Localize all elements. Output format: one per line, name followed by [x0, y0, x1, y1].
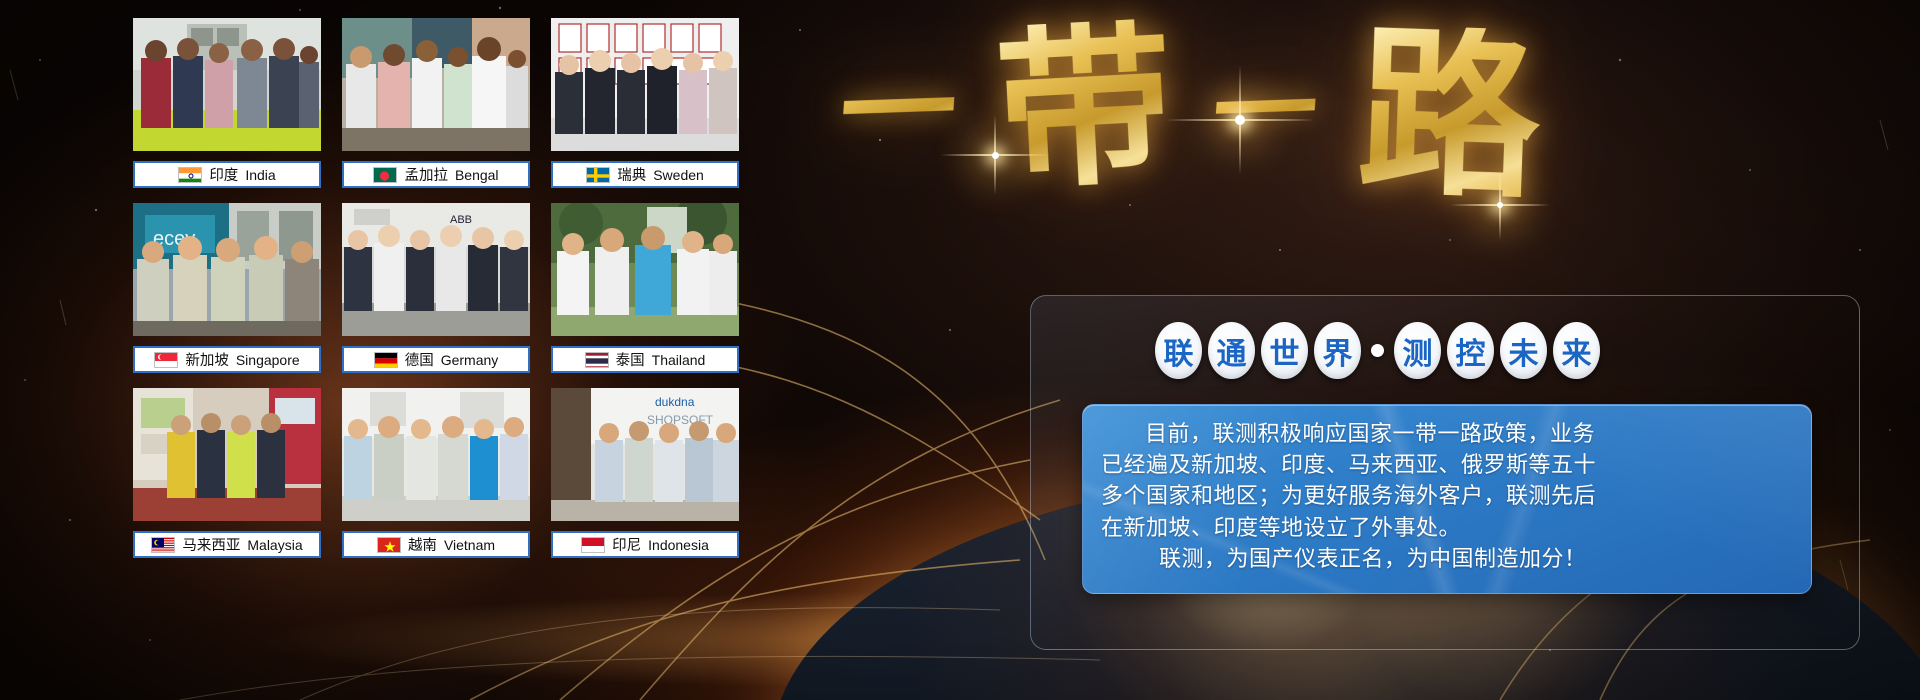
- photo-thumbnail: [133, 18, 321, 151]
- country-name-cn: 新加坡: [185, 349, 229, 370]
- gallery-item[interactable]: 马来西亚 Malaysia: [133, 388, 321, 558]
- gallery-item[interactable]: 孟加拉 Bengal: [342, 18, 530, 188]
- country-label: 马来西亚 Malaysia: [133, 531, 321, 558]
- photo-thumbnail: ABB: [342, 203, 530, 336]
- photo-thumbnail: [342, 18, 530, 151]
- country-name-en: Singapore: [236, 352, 300, 368]
- slogan-badge: 未: [1500, 322, 1547, 379]
- headline-char-1: 一: [836, 53, 960, 173]
- flag-germany-icon: [374, 352, 398, 368]
- country-name-en: Sweden: [653, 167, 704, 183]
- slogan-badge: 控: [1447, 322, 1494, 379]
- country-name-cn: 越南: [408, 534, 437, 555]
- country-name-en: Bengal: [455, 167, 499, 183]
- photo-thumbnail: [551, 18, 739, 151]
- slogan-badge: 来: [1553, 322, 1600, 379]
- photo-thumbnail: [551, 203, 739, 336]
- photo-thumbnail: dukdna SHOPSOFT: [551, 388, 739, 521]
- description-line: 多个国家和地区；为更好服务海外客户，联测先后: [1101, 481, 1793, 512]
- description-line: 目前，联测积极响应国家一带一路政策，业务: [1101, 419, 1793, 450]
- gallery-item[interactable]: 瑞典 Sweden: [551, 18, 739, 188]
- country-name-en: Vietnam: [444, 537, 495, 553]
- gallery-item[interactable]: dukdna SHOPSOFT: [551, 388, 739, 558]
- country-name-cn: 瑞典: [617, 164, 646, 185]
- svg-text:dukdna: dukdna: [655, 395, 695, 409]
- country-name-cn: 马来西亚: [182, 534, 240, 555]
- country-label: 德国 Germany: [342, 346, 530, 373]
- description-line: 在新加坡、印度等地设立了外事处。: [1101, 513, 1793, 544]
- country-label: 越南 Vietnam: [342, 531, 530, 558]
- country-label: 印尼 Indonesia: [551, 531, 739, 558]
- country-name-en: Thailand: [652, 352, 706, 368]
- photo-thumbnail: [342, 388, 530, 521]
- gallery-item[interactable]: ABB: [342, 203, 530, 373]
- description-line: 已经遍及新加坡、印度、马来西亚、俄罗斯等五十: [1101, 450, 1793, 481]
- description-box: 目前，联测积极响应国家一带一路政策，业务 已经遍及新加坡、印度、马来西亚、俄罗斯…: [1082, 404, 1812, 594]
- svg-text:ABB: ABB: [450, 214, 472, 226]
- headline-char-4: 路: [1355, 23, 1543, 211]
- slogan-separator-dot-icon: [1371, 344, 1384, 357]
- country-label: 泰国 Thailand: [551, 346, 739, 373]
- country-name-en: India: [245, 167, 275, 183]
- slogan-badge: 联: [1155, 322, 1202, 379]
- slogan-badges: 联 通 世 界 测 控 未 来: [1155, 322, 1600, 379]
- photo-thumbnail: ecev: [133, 203, 321, 336]
- gallery-item[interactable]: 印度 India: [133, 18, 321, 188]
- country-label: 新加坡 Singapore: [133, 346, 321, 373]
- flag-bangladesh-icon: [373, 167, 397, 183]
- headline-char-2: 带: [992, 17, 1177, 202]
- slogan-badge: 界: [1314, 322, 1361, 379]
- country-name-en: Germany: [441, 352, 499, 368]
- description-line: 联测，为国产仪表正名，为中国制造加分！: [1101, 544, 1793, 575]
- gallery-item[interactable]: 泰国 Thailand: [551, 203, 739, 373]
- country-name-cn: 德国: [405, 349, 434, 370]
- slogan-badge: 世: [1261, 322, 1308, 379]
- slogan-badge: 通: [1208, 322, 1255, 379]
- country-label: 孟加拉 Bengal: [342, 161, 530, 188]
- gallery-item[interactable]: 越南 Vietnam: [342, 388, 530, 558]
- country-name-cn: 泰国: [616, 349, 645, 370]
- banner-stage: 印度 India: [0, 0, 1920, 700]
- flag-vietnam-icon: [377, 537, 401, 553]
- country-name-en: Malaysia: [247, 537, 302, 553]
- country-name-cn: 印尼: [612, 534, 641, 555]
- country-label: 印度 India: [133, 161, 321, 188]
- flag-thailand-icon: [585, 352, 609, 368]
- headline-calligraphy: 一 带 一 路: [840, 10, 1540, 215]
- slogan-badge: 测: [1394, 322, 1441, 379]
- flag-india-icon: [178, 167, 202, 183]
- gallery-item[interactable]: ecev: [133, 203, 321, 373]
- country-photo-grid: 印度 India: [133, 18, 739, 558]
- country-label: 瑞典 Sweden: [551, 161, 739, 188]
- country-name-cn: 印度: [209, 164, 238, 185]
- flag-malaysia-icon: [151, 537, 175, 553]
- flag-singapore-icon: [154, 352, 178, 368]
- headline-char-3: 一: [1210, 59, 1322, 167]
- flag-sweden-icon: [586, 167, 610, 183]
- country-name-cn: 孟加拉: [404, 164, 448, 185]
- flag-indonesia-icon: [581, 537, 605, 553]
- country-name-en: Indonesia: [648, 537, 709, 553]
- photo-thumbnail: [133, 388, 321, 521]
